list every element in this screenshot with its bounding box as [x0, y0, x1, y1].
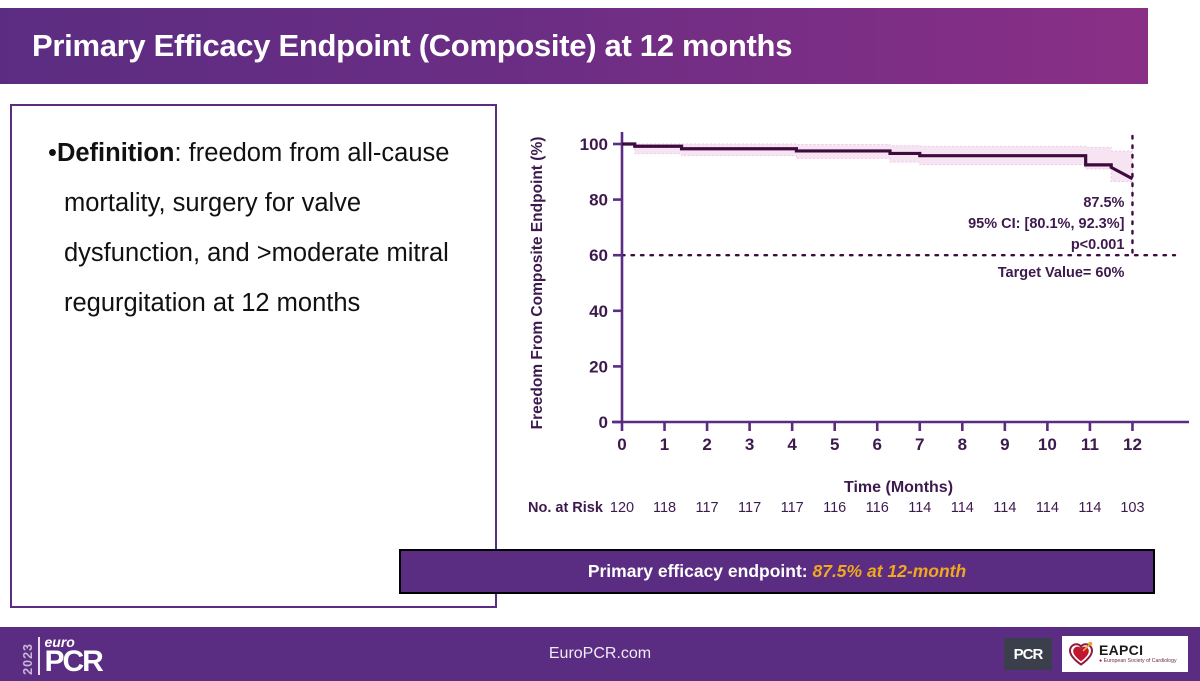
- svg-text:100: 100: [580, 135, 608, 154]
- number-at-risk-value: 114: [942, 500, 982, 516]
- definition-box: •Definition: freedom from all-cause mort…: [10, 104, 497, 608]
- svg-text:87.5%: 87.5%: [1083, 195, 1124, 211]
- svg-text:0: 0: [617, 435, 626, 454]
- svg-text:p<0.001: p<0.001: [1071, 237, 1125, 253]
- svg-text:80: 80: [589, 191, 608, 210]
- svg-text:Target Value= 60%: Target Value= 60%: [998, 265, 1125, 281]
- svg-text:Time (Months): Time (Months): [844, 479, 953, 496]
- number-at-risk-label: No. at Risk: [528, 500, 603, 516]
- pcr-badge-logo: PCR: [1004, 638, 1052, 670]
- svg-text:11: 11: [1081, 435, 1099, 454]
- svg-text:6: 6: [872, 435, 881, 454]
- svg-text:1: 1: [660, 435, 669, 454]
- banner-text: Primary efficacy endpoint: 87.5% at 12-m…: [588, 561, 966, 582]
- banner-highlight-value: 87.5%: [812, 561, 862, 581]
- slide-title-bar: Primary Efficacy Endpoint (Composite) at…: [0, 8, 1148, 84]
- svg-text:0: 0: [599, 413, 608, 432]
- svg-text:10: 10: [1038, 435, 1057, 454]
- eapci-name: EAPCI: [1099, 643, 1177, 657]
- svg-text:7: 7: [915, 435, 924, 454]
- svg-text:5: 5: [830, 435, 839, 454]
- number-at-risk-value: 114: [1027, 500, 1067, 516]
- svg-text:20: 20: [589, 357, 608, 376]
- svg-text:95% CI: [80.1%, 92.3%]: 95% CI: [80.1%, 92.3%]: [968, 216, 1125, 232]
- kaplan-meier-chart: 0204060801000123456789101112Freedom From…: [520, 104, 1190, 534]
- chart-svg: 0204060801000123456789101112Freedom From…: [520, 104, 1190, 534]
- eapci-logo: EAPCI ● European Society of Cardiology: [1062, 636, 1188, 672]
- number-at-risk-value: 120: [602, 500, 642, 516]
- number-at-risk-value: 117: [772, 500, 812, 516]
- number-at-risk-value: 118: [645, 500, 685, 516]
- svg-text:9: 9: [1000, 435, 1009, 454]
- pcr-badge-text: PCR: [1014, 646, 1043, 663]
- number-at-risk-value: 117: [687, 500, 727, 516]
- bullet-glyph: •: [48, 139, 57, 167]
- number-at-risk-value: 103: [1112, 500, 1152, 516]
- primary-endpoint-banner: Primary efficacy endpoint: 87.5% at 12-m…: [399, 549, 1155, 594]
- banner-prefix: Primary efficacy endpoint:: [588, 561, 808, 581]
- svg-text:4: 4: [787, 435, 797, 454]
- banner-suffix: at 12-month: [867, 561, 966, 581]
- svg-text:2: 2: [702, 435, 711, 454]
- number-at-risk-value: 116: [857, 500, 897, 516]
- number-at-risk-value: 114: [900, 500, 940, 516]
- svg-text:40: 40: [589, 302, 608, 321]
- page-title: Primary Efficacy Endpoint (Composite) at…: [0, 28, 792, 64]
- heart-icon: [1068, 642, 1094, 666]
- number-at-risk-value: 114: [1070, 500, 1110, 516]
- definition-label: Definition: [57, 139, 175, 167]
- svg-text:12: 12: [1123, 435, 1142, 454]
- eapci-subtitle: ● European Society of Cardiology: [1099, 659, 1177, 664]
- svg-text:3: 3: [745, 435, 754, 454]
- number-at-risk-value: 117: [730, 500, 770, 516]
- number-at-risk-row: No. at Risk 1201181171171171161161141141…: [520, 498, 1180, 524]
- svg-text:60: 60: [589, 246, 608, 265]
- number-at-risk-value: 114: [985, 500, 1025, 516]
- svg-text:8: 8: [958, 435, 967, 454]
- slide-footer: 2023 euro PCR EuroPCR.com PCR EAPCI ● Eu…: [0, 627, 1200, 681]
- definition-text: •Definition: freedom from all-cause mort…: [12, 106, 495, 328]
- svg-text:Freedom From Composite Endpoin: Freedom From Composite Endpoint (%): [529, 137, 546, 430]
- number-at-risk-value: 116: [815, 500, 855, 516]
